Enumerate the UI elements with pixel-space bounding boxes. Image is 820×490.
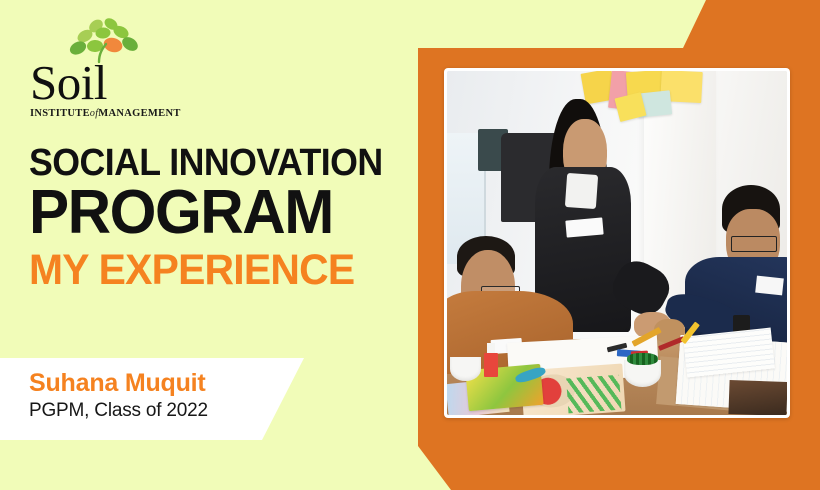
photo-person-center-shirt [565,173,598,209]
photo-dark-box [729,380,787,415]
page-title: SOCIAL INNOVATION PROGRAM MY EXPERIENCE [29,143,405,293]
poster-canvas: Soil INSTITUTEofMANAGEMENT SOCIAL INNOVA… [0,0,820,490]
logo-tagline-suffix: MANAGEMENT [98,108,180,119]
workshop-photo [447,71,787,415]
tree-leaves-icon [66,18,180,62]
headline-line-2: PROGRAM [29,181,394,245]
author-name: Suhana Muquit [29,369,206,397]
photo-glue-stick [484,353,498,377]
headline-line-1: SOCIAL INNOVATION [29,143,383,183]
photo-person-center-nametag [565,217,604,237]
author-banner: Suhana Muquit PGPM, Class of 2022 [0,358,304,440]
logo-tagline: INSTITUTEofMANAGEMENT [30,108,180,119]
photo-supply-bowl [450,357,481,381]
headline-line-3: MY EXPERIENCE [29,247,386,293]
author-program-and-class: PGPM, Class of 2022 [29,399,208,423]
logo-wordmark: Soil [30,58,180,107]
photo-person-right-nametag [756,276,785,296]
brand-logo: Soil INSTITUTEofMANAGEMENT [30,18,180,119]
logo-tagline-prefix: INSTITUTE [30,108,90,119]
workshop-photo-frame [444,68,790,418]
photo-person-right-glasses [731,236,777,252]
